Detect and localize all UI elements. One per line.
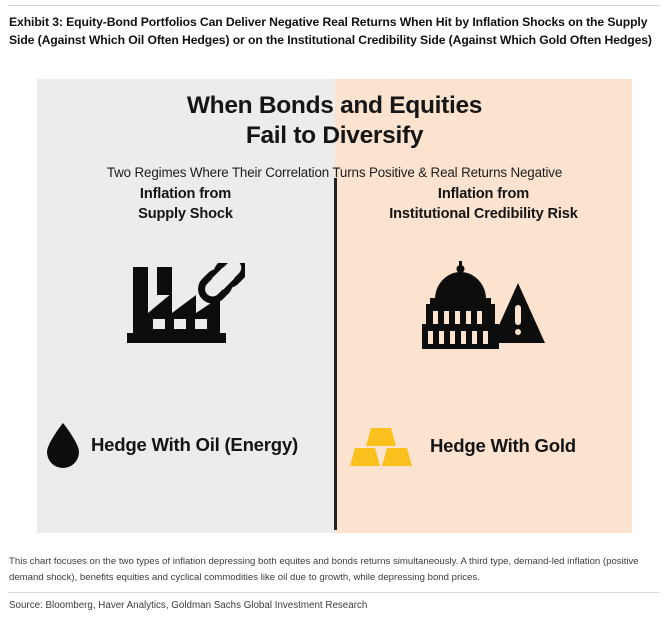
left-heading-line-2: Supply Shock (37, 205, 334, 225)
source-divider-rule (8, 592, 660, 593)
chart-footnote: This chart focuses on the two types of i… (9, 554, 659, 585)
figure-title: When Bonds and Equities Fail to Diversif… (37, 91, 632, 151)
column-credibility-risk: Inflation from Institutional Credibility… (335, 178, 632, 530)
factory-chain-icon (127, 263, 245, 347)
left-hedge-row: Hedge With Oil (Energy) (37, 422, 342, 468)
capitol-warning-icon (422, 261, 546, 349)
right-heading-line-1: Inflation from (335, 185, 632, 205)
figure-container: When Bonds and Equities Fail to Diversif… (37, 79, 632, 533)
left-icon-area (37, 250, 334, 360)
figure-title-line-2: Fail to Diversify (37, 121, 632, 151)
right-panel-heading: Inflation from Institutional Credibility… (335, 185, 632, 225)
figure-title-line-1: When Bonds and Equities (37, 91, 632, 121)
right-heading-line-2: Institutional Credibility Risk (335, 205, 632, 225)
top-divider-rule (8, 5, 660, 6)
column-supply-shock: Inflation from Supply Shock (37, 178, 334, 530)
oil-drop-icon (45, 422, 81, 468)
source-line: Source: Bloomberg, Haver Analytics, Gold… (9, 600, 367, 611)
exhibit-title: Exhibit 3: Equity-Bond Portfolios Can De… (9, 13, 659, 49)
figure-header: When Bonds and Equities Fail to Diversif… (37, 79, 632, 180)
right-hedge-label: Hedge With Gold (430, 435, 576, 457)
right-hedge-row: Hedge With Gold (335, 424, 647, 468)
right-icon-area (335, 250, 632, 360)
gold-bars-icon (350, 424, 412, 468)
chain-link-glyph (197, 263, 245, 305)
left-panel-heading: Inflation from Supply Shock (37, 185, 334, 225)
left-hedge-label: Hedge With Oil (Energy) (91, 434, 298, 456)
warning-triangle-glyph (491, 283, 545, 343)
left-heading-line-1: Inflation from (37, 185, 334, 205)
